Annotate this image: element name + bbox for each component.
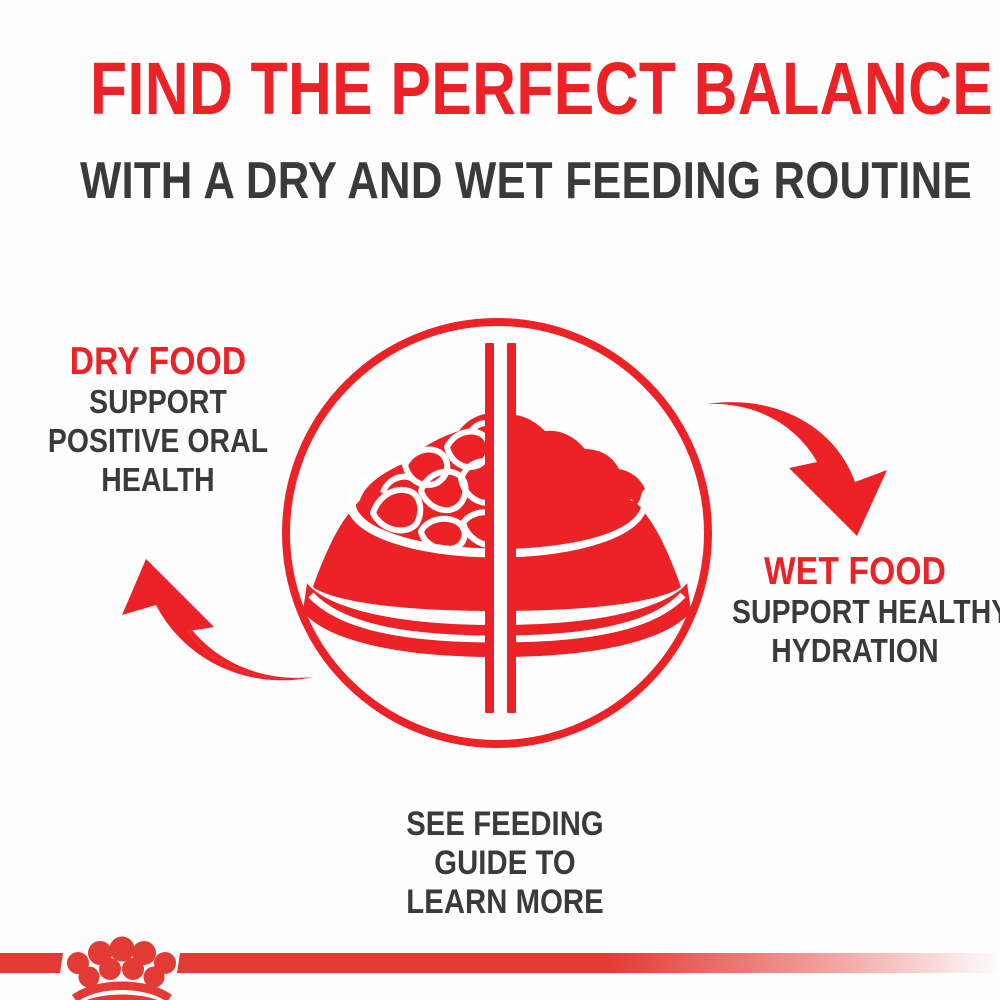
- callout-wet-food: WET FOOD SUPPORT HEALTHY HYDRATION: [712, 551, 998, 670]
- page-subtitle: WITH A DRY AND WET FEEDING ROUTINE: [80, 155, 920, 207]
- callout-wet-food-title: WET FOOD: [732, 551, 978, 592]
- curved-arrow-down-right-icon: [705, 390, 895, 540]
- divider-gap: [494, 343, 507, 713]
- callout-dry-food-line-3: HEALTH: [41, 460, 275, 499]
- royal-canin-crown-logo: [67, 937, 176, 1000]
- feeding-guide-line-1: SEE FEEDING: [355, 805, 656, 844]
- callout-dry-food-body: SUPPORT POSITIVE ORAL HEALTH: [41, 382, 275, 499]
- page-title: FIND THE PERFECT BALANCE: [90, 52, 910, 126]
- divider-bar-left: [485, 343, 494, 713]
- callout-dry-food-line-2: POSITIVE ORAL: [41, 421, 275, 460]
- feeding-guide-line-2: GUIDE TO: [355, 844, 656, 883]
- pet-food-bowl-emblem: [255, 295, 745, 775]
- callout-dry-food: DRY FOOD SUPPORT POSITIVE ORAL HEALTH: [22, 341, 294, 499]
- callout-dry-food-title: DRY FOOD: [41, 341, 275, 382]
- curved-arrow-up-left-icon: [118, 535, 318, 705]
- feeding-guide-line-3: LEARN MORE: [355, 883, 656, 922]
- food-bowl-illustration: [303, 343, 691, 713]
- callout-dry-food-line-1: SUPPORT: [41, 382, 275, 421]
- brand-rule-left: [0, 953, 63, 973]
- brand-rule-right: [177, 953, 1000, 973]
- poster-canvas: FIND THE PERFECT BALANCE WITH A DRY AND …: [0, 0, 1000, 1000]
- divider-bar-right: [507, 343, 516, 713]
- callout-wet-food-line-2: HYDRATION: [732, 631, 978, 670]
- callout-wet-food-line-1: SUPPORT HEALTHY: [732, 592, 978, 631]
- feeding-guide-caption: SEE FEEDING GUIDE TO LEARN MORE: [355, 805, 656, 922]
- brand-bar: [0, 925, 1000, 1000]
- callout-wet-food-body: SUPPORT HEALTHY HYDRATION: [732, 592, 978, 670]
